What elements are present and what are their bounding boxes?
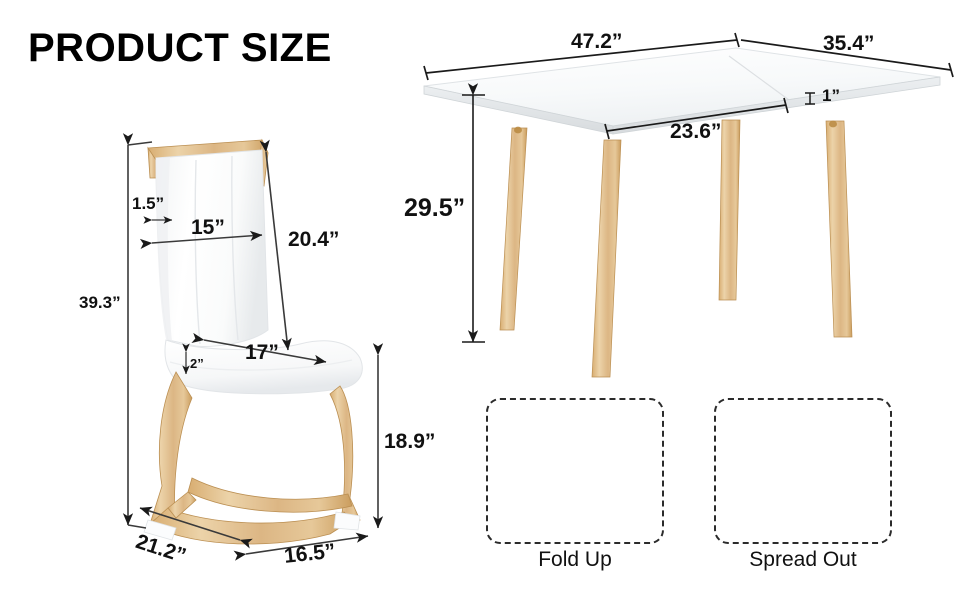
table-width-label: 47.2” xyxy=(571,30,622,54)
table-front-span-label: 23.6” xyxy=(670,120,721,144)
chair-seat-depth-label: 17” xyxy=(245,341,279,365)
table-legs xyxy=(500,120,852,377)
product-size-diagram: PRODUCT SIZE xyxy=(0,0,970,600)
spread-out-caption: Spread Out xyxy=(714,548,892,572)
chair-seat-height-label: 18.9” xyxy=(384,430,435,454)
fold-up-caption: Fold Up xyxy=(486,548,664,572)
table-dimension-lines xyxy=(424,33,953,342)
chair-seat-thickness-label: 2” xyxy=(190,356,204,371)
table-depth-label: 35.4” xyxy=(823,32,874,56)
table-height-label: 29.5” xyxy=(404,194,465,223)
page-title: PRODUCT SIZE xyxy=(28,26,332,71)
chair-height-label: 39.3” xyxy=(79,293,121,313)
table-top-thickness-label: 1” xyxy=(822,86,840,106)
chair-back-width-label: 15” xyxy=(191,216,225,240)
fold-up-panel xyxy=(486,398,664,544)
chair-base-depth-label: 21.2” xyxy=(133,530,189,569)
chair-total-height-label: 1.5” xyxy=(132,194,164,214)
chair-back-height-label: 20.4” xyxy=(288,228,339,252)
spread-out-panel xyxy=(714,398,892,544)
chair-base-width-label: 16.5” xyxy=(283,540,337,569)
